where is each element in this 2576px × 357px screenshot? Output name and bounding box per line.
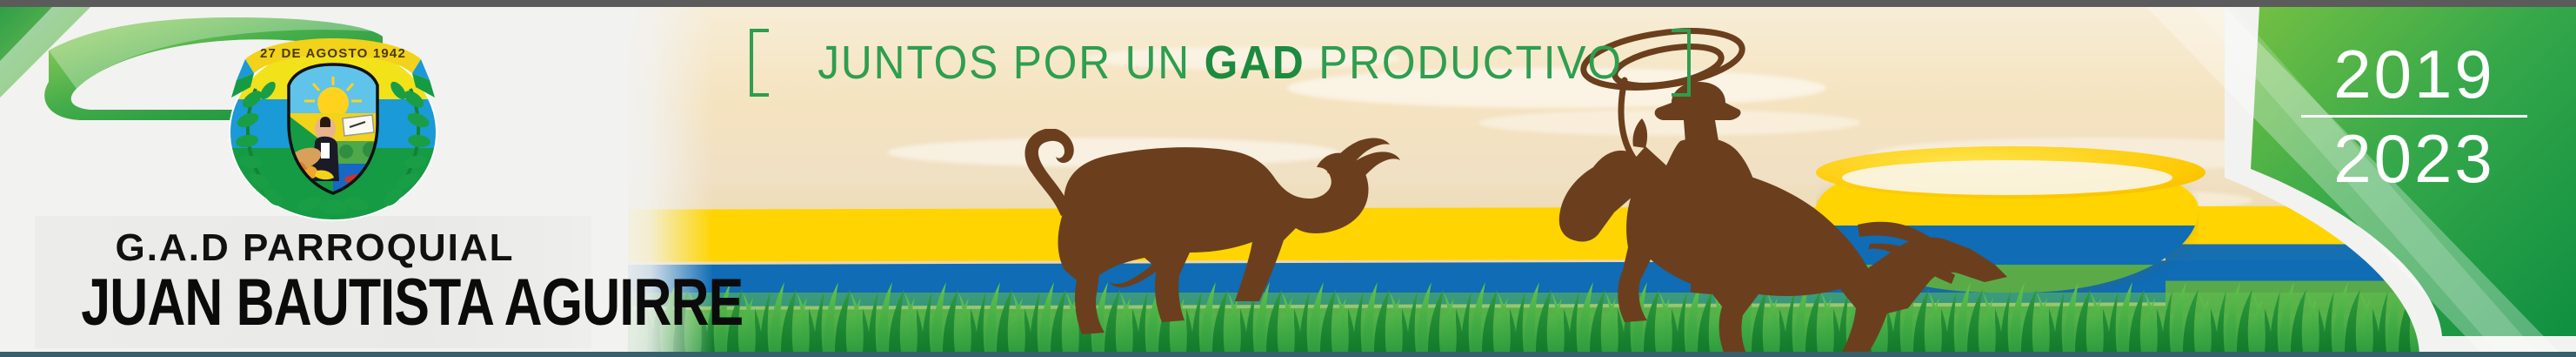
slogan-text: JUNTOS POR UN GAD PRODUCTIVO <box>805 36 1636 90</box>
term-end-year: 2023 <box>2292 125 2536 194</box>
bracket-left-icon <box>750 29 769 97</box>
term-start-year: 2019 <box>2292 40 2536 110</box>
term-divider <box>2301 115 2527 118</box>
bull-silhouette <box>981 104 1468 357</box>
org-prefix-text: G.A.D PARROQUIAL <box>37 226 593 270</box>
crest-motto: 27 DE AGOSTO 1942 <box>260 46 406 61</box>
slogan-before: JUNTOS POR UN <box>818 37 1204 89</box>
bracket-right-icon <box>1672 29 1691 97</box>
org-name-text: JUAN BAUTISTA AGUIRRE <box>81 265 549 340</box>
coat-of-arms-icon: 27 DE AGOSTO 1942 <box>207 19 459 228</box>
slogan-after: PRODUCTIVO <box>1305 37 1623 89</box>
slogan-container: JUNTOS POR UN GAD PRODUCTIVO <box>750 28 1691 98</box>
slogan-highlight: GAD <box>1205 37 1305 89</box>
term-years: 2019 2023 <box>2292 40 2536 193</box>
institutional-banner: 27 DE AGOSTO 1942 G.A.D PARROQUIAL JUAN … <box>0 0 2576 357</box>
